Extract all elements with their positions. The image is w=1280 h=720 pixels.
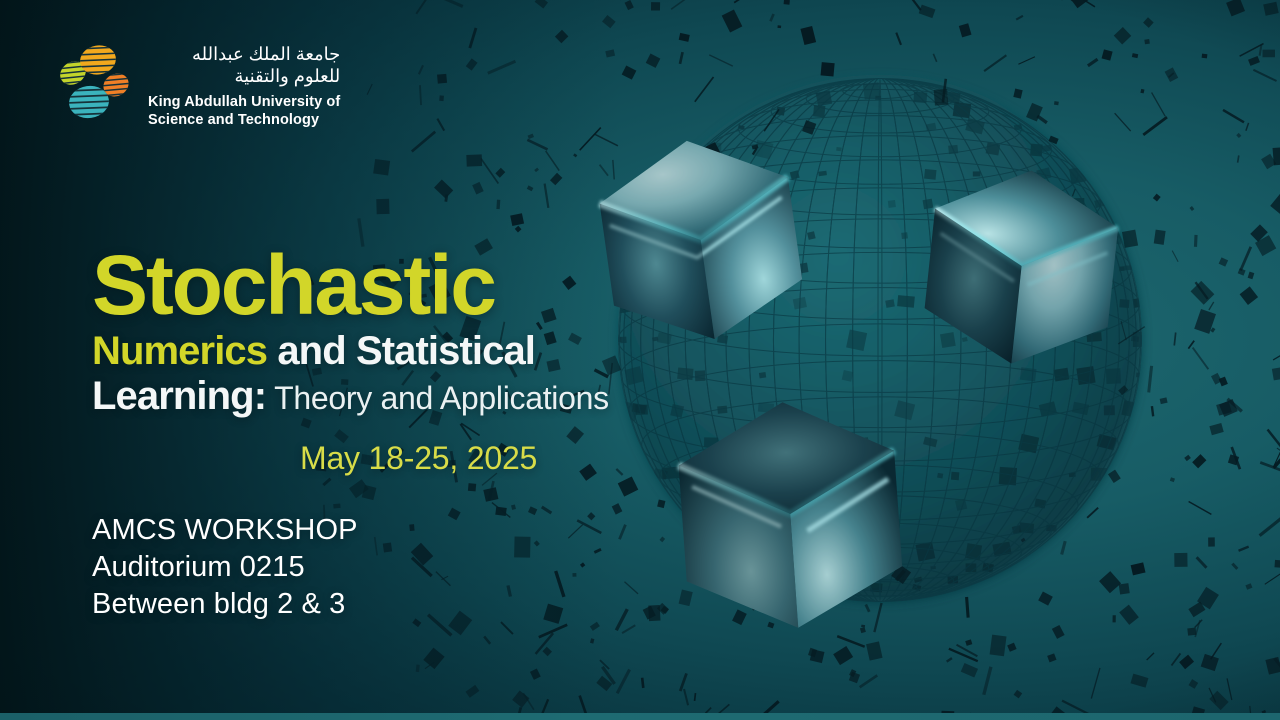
- venue-line-auditorium: Auditorium 0215: [92, 549, 358, 586]
- logo-english-line-2: Science and Technology: [148, 111, 340, 130]
- logo-arabic-line-2: للعلوم والتقنية: [148, 66, 340, 88]
- event-title-secondary: Numerics and Statistical: [92, 330, 792, 373]
- event-title-tertiary-bold: Learning:: [92, 374, 266, 418]
- logo-english-line-1: King Abdullah University of: [148, 93, 340, 112]
- event-title-tertiary: Learning: Theory and Applications: [92, 375, 792, 418]
- kaust-logo-text: جامعة الملك عبدالله للعلوم والتقنية King…: [148, 40, 340, 130]
- kaust-logo: جامعة الملك عبدالله للعلوم والتقنية King…: [56, 40, 340, 130]
- logo-arabic-line-1: جامعة الملك عبدالله: [148, 44, 340, 66]
- event-subtitle-light: Theory and Applications: [266, 380, 609, 416]
- venue-line-workshop: AMCS WORKSHOP: [92, 512, 358, 549]
- kaust-logo-mark-icon: [56, 40, 134, 128]
- venue-line-building: Between bldg 2 & 3: [92, 586, 358, 623]
- event-title-secondary-rest: and Statistical: [267, 329, 535, 373]
- poster-canvas: جامعة الملك عبدالله للعلوم والتقنية King…: [0, 0, 1280, 720]
- venue-block: AMCS WORKSHOP Auditorium 0215 Between bl…: [92, 512, 358, 623]
- bottom-accent-band: [0, 713, 1280, 720]
- event-title-accent-word: Numerics: [92, 329, 267, 373]
- event-title-primary: Stochastic: [92, 247, 792, 324]
- event-dates: May 18-25, 2025: [300, 440, 537, 477]
- headline-block: Stochastic Numerics and Statistical Lear…: [92, 247, 792, 419]
